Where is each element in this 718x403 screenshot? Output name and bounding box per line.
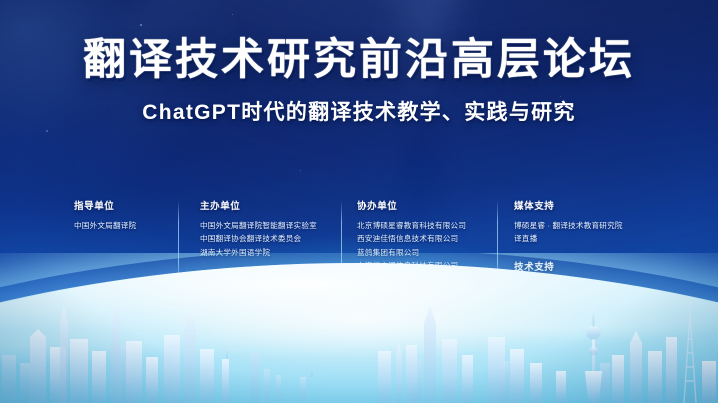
star-speck-icon — [232, 14, 233, 15]
organizer-column-support: 媒体支持 博硕星睿 · 翻译技术教育研究院 译直播 技术支持 武汉爱译信息技术有… — [514, 198, 664, 293]
conference-poster: 翻译技术研究前沿高层论坛 ChatGPT时代的翻译技术教学、实践与研究 指导单位… — [0, 0, 718, 403]
page-subtitle: ChatGPT时代的翻译技术教学、实践与研究 — [0, 96, 718, 126]
event-datetime: 2023年6月9日 | 周五 | 9:00—17:30 — [0, 297, 718, 327]
star-speck-icon — [46, 130, 48, 132]
event-date: 2023年6月9日 — [0, 297, 718, 311]
organizer-item: 湖南大学外国语学院 — [200, 246, 340, 259]
organizers-section: 指导单位 中国外文局翻译院 主办单位 中国外文局翻译院智能翻译实验室 中国翻译协… — [0, 198, 718, 294]
star-speck-icon — [140, 24, 142, 26]
skyline-buildings-left-back — [2, 345, 260, 403]
organizer-item: 武汉爱译信息技术有限公司 — [514, 280, 664, 293]
star-speck-icon — [300, 170, 301, 171]
organizer-item: 中国翻译协会翻译技术委员会 — [200, 232, 340, 245]
organizer-heading: 主办单位 — [200, 198, 340, 212]
column-divider — [178, 200, 179, 286]
organizer-heading: 技术支持 — [514, 259, 664, 273]
organizer-item: 中国外文局翻译院智能翻译实验室 — [200, 219, 340, 232]
title-block: 翻译技术研究前沿高层论坛 ChatGPT时代的翻译技术教学、实践与研究 — [0, 36, 718, 126]
organizer-item: 上海华之译信息科技有限公司 — [357, 259, 497, 272]
organizer-item: 北京博硕星睿教育科技有限公司 — [357, 219, 497, 232]
skyline-buildings-middle — [300, 367, 314, 403]
organizer-column-host: 主办单位 中国外文局翻译院智能翻译实验室 中国翻译协会翻译技术委员会 湖南大学外… — [200, 198, 340, 259]
organizer-item: 蓝鸽集团有限公司 — [357, 246, 497, 259]
organizer-item: 西安迪佳悟信息技术有限公司 — [357, 232, 497, 245]
column-divider — [497, 200, 498, 286]
event-time: | 周五 | 9:00—17:30 — [0, 316, 718, 327]
skyline-buildings-right-back — [412, 359, 610, 403]
column-divider — [341, 200, 342, 286]
organizer-column-guidance: 指导单位 中国外文局翻译院 — [74, 198, 184, 232]
organizer-heading: 指导单位 — [74, 198, 184, 212]
organizer-item: 中国外文局翻译院 — [74, 219, 184, 232]
page-title: 翻译技术研究前沿高层论坛 — [0, 36, 718, 84]
organizer-column-coorganizer: 协办单位 北京博硕星睿教育科技有限公司 西安迪佳悟信息技术有限公司 蓝鸽集团有限… — [357, 198, 497, 272]
organizer-heading: 协办单位 — [357, 198, 497, 212]
organizer-heading: 媒体支持 — [514, 198, 664, 212]
organizer-item: 博硕星睿 · 翻译技术教育研究院 — [514, 219, 664, 232]
organizer-item: 译直播 — [514, 232, 664, 245]
